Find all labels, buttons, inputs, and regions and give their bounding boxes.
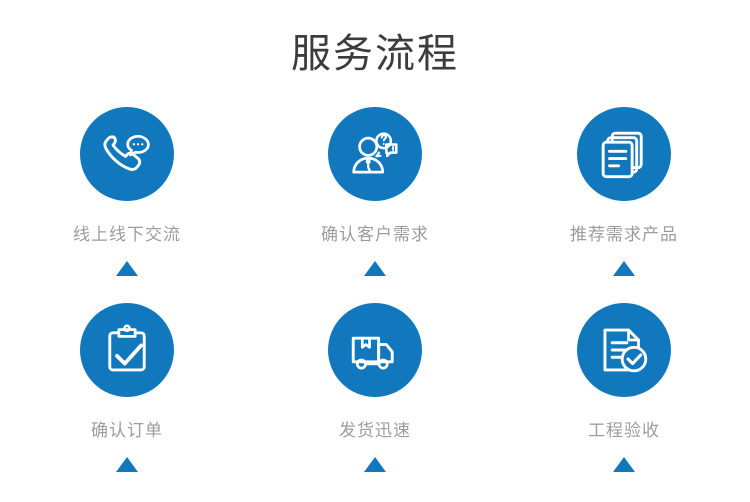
step-label-1: 线上线下交流 <box>73 226 181 243</box>
step-item-3[interactable]: 推荐需求产品 <box>499 107 749 303</box>
step-label-3: 推荐需求产品 <box>570 226 678 243</box>
step-item-2[interactable]: 确认客户需求 <box>250 107 500 303</box>
step-item-5[interactable]: 发货迅速 <box>250 303 500 499</box>
service-process-grid: 线上线下交流 确认客户需求 <box>0 107 750 499</box>
step-label-5: 发货迅速 <box>339 422 411 439</box>
step-icon-circle-4[interactable] <box>80 303 174 397</box>
step-arrow-3 <box>613 261 635 276</box>
step-arrow-5 <box>364 457 386 472</box>
step-label-4: 确认订单 <box>91 422 163 439</box>
step-icon-circle-5[interactable] <box>328 303 422 397</box>
step-item-4[interactable]: 确认订单 <box>2 303 252 499</box>
service-process-section: 服务流程 线上线下交流 <box>0 0 750 502</box>
step-arrow-4 <box>116 457 138 472</box>
step-item-6[interactable]: 工程验收 <box>499 303 749 499</box>
delivery-truck-icon <box>346 321 404 379</box>
person-question-icon <box>346 125 404 183</box>
phone-chat-icon <box>98 125 156 183</box>
step-label-6: 工程验收 <box>588 422 660 439</box>
step-icon-circle-2[interactable] <box>328 107 422 201</box>
step-arrow-2 <box>364 261 386 276</box>
step-label-2: 确认客户需求 <box>321 226 429 243</box>
documents-stack-icon <box>595 125 653 183</box>
step-icon-circle-1[interactable] <box>80 107 174 201</box>
document-verified-icon <box>595 321 653 379</box>
step-icon-circle-6[interactable] <box>577 303 671 397</box>
step-icon-circle-3[interactable] <box>577 107 671 201</box>
step-arrow-6 <box>613 457 635 472</box>
step-arrow-1 <box>116 261 138 276</box>
step-item-1[interactable]: 线上线下交流 <box>2 107 252 303</box>
clipboard-check-icon <box>98 321 156 379</box>
page-title: 服务流程 <box>0 0 750 74</box>
